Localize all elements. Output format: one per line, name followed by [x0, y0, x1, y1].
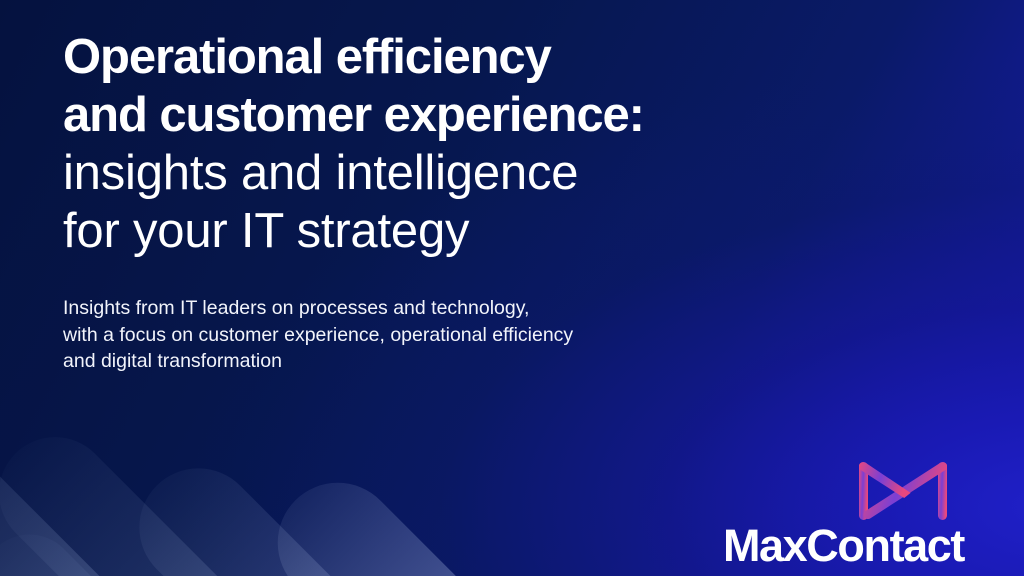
slide-subtitle: Insights from IT leaders on processes an…: [63, 260, 853, 375]
diagonal-bar: [115, 444, 467, 576]
headline-line-2: and customer experience:: [63, 86, 853, 144]
slide-headline: Operational efficiency and customer expe…: [63, 28, 853, 260]
presentation-slide: Operational efficiency and customer expe…: [0, 0, 1024, 576]
slide-content: Operational efficiency and customer expe…: [63, 28, 853, 375]
maxcontact-wordmark: MaxContact: [674, 520, 964, 572]
maxcontact-logo: MaxContact: [674, 454, 964, 572]
subtitle-line-2: with a focus on customer experience, ope…: [63, 322, 853, 349]
diagonal-bar: [253, 458, 571, 576]
diagonal-bar: [0, 393, 220, 576]
diagonal-bar: [0, 515, 206, 576]
maxcontact-m-logo-icon: [859, 462, 947, 520]
diagonal-bar: [0, 414, 352, 576]
subtitle-line-3: and digital transformation: [63, 348, 853, 375]
headline-line-3: insights and intelligence: [63, 144, 853, 202]
headline-line-1: Operational efficiency: [63, 28, 853, 86]
headline-line-4: for your IT strategy: [63, 202, 853, 260]
subtitle-line-1: Insights from IT leaders on processes an…: [63, 295, 853, 322]
